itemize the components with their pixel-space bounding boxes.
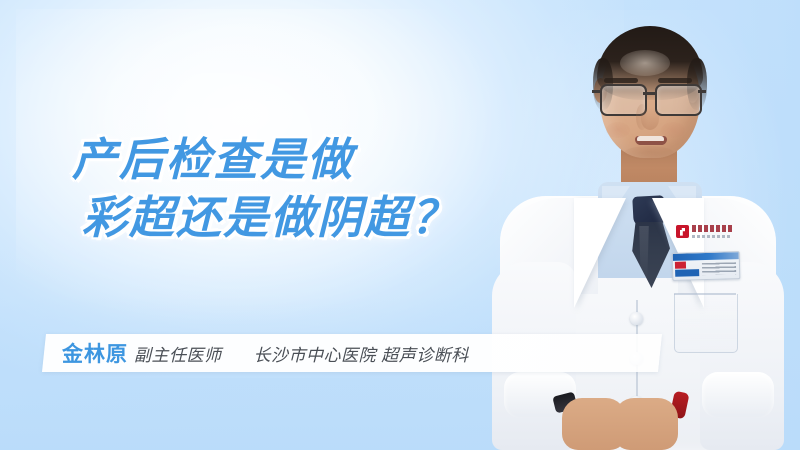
lab-coat-cuff-right	[702, 372, 774, 418]
lab-coat-pocket	[674, 294, 738, 353]
badge-header-stripe	[673, 252, 739, 261]
forehead-highlight	[620, 50, 670, 76]
eyebrow-left	[604, 78, 638, 83]
hospital-id-badge	[672, 251, 741, 281]
promo-banner: 产后检查是做 彩超还是做阴超？ 金林原 副主任医师 长沙市中心医院 超声诊断科	[0, 0, 800, 450]
badge-text-lines	[702, 262, 736, 275]
teeth	[637, 136, 664, 141]
headline-line-2: 彩超还是做阴超？	[82, 189, 542, 247]
lab-coat-pocket-edge	[674, 293, 736, 295]
hand-right	[614, 398, 678, 450]
credential-content: 金林原 副主任医师 长沙市中心医院 超声诊断科	[62, 334, 469, 372]
badge-red-tag	[675, 262, 686, 269]
nose	[641, 108, 659, 130]
headline: 产后检查是做 彩超还是做阴超？	[72, 131, 542, 247]
eyebrow-right	[658, 78, 692, 83]
doctor-name: 金林原	[62, 338, 128, 368]
eyeglass-lens-right	[655, 84, 702, 116]
doctor-organization: 长沙市中心医院 超声诊断科	[254, 341, 469, 366]
lab-coat-button	[630, 312, 643, 325]
hospital-logo	[676, 224, 734, 242]
hospital-logo-mark-icon	[676, 225, 689, 238]
lab-coat-lapel-left	[574, 198, 626, 308]
lab-coat-sleeve-right	[700, 262, 784, 450]
badge-blue-tag	[675, 269, 699, 277]
eyeglass-bridge	[643, 92, 657, 95]
hospital-logo-wordmark	[692, 225, 734, 232]
eyeglass-temple-left	[592, 90, 600, 93]
cheek-left	[606, 122, 630, 138]
doctor-title: 副主任医师	[134, 341, 222, 366]
eyeglass-temple-right	[698, 90, 706, 93]
hospital-logo-subtext	[692, 235, 732, 238]
headline-line-1: 产后检查是做	[72, 131, 542, 189]
chin-shadow	[624, 146, 674, 160]
